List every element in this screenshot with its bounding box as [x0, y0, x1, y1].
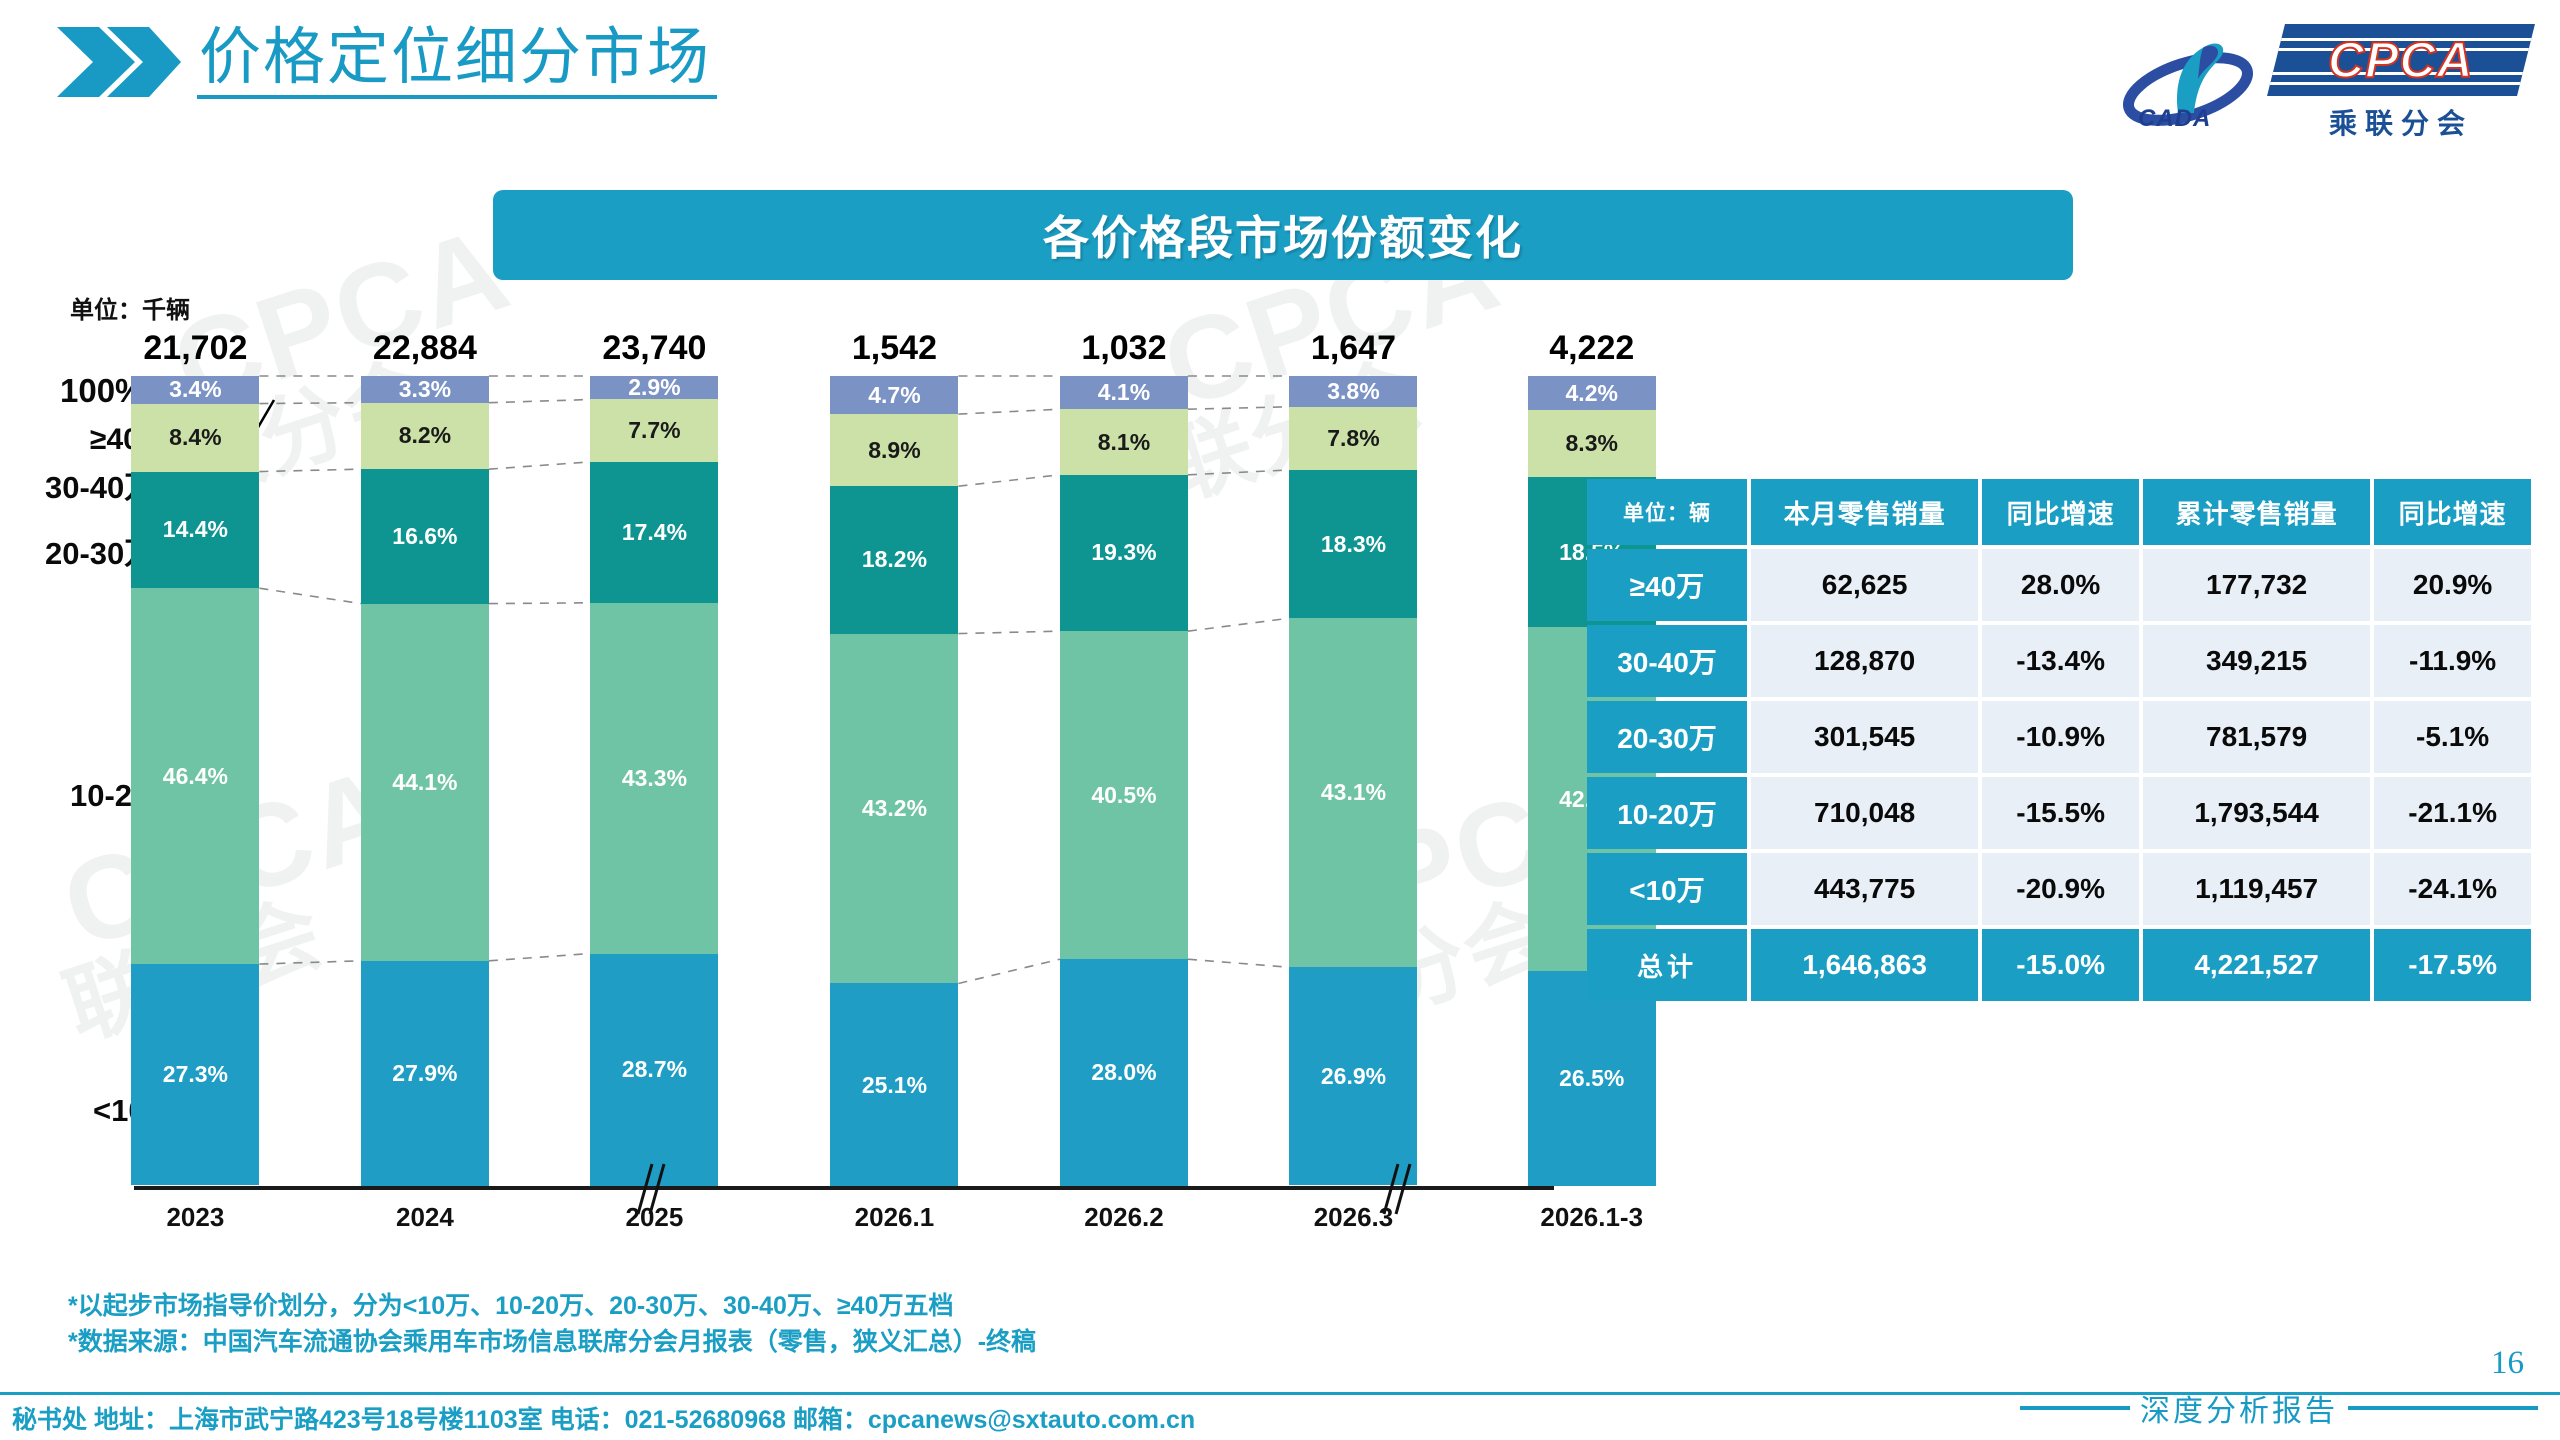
- bar-segment-≥40万: 3.8%: [1289, 376, 1417, 407]
- bar-segment-30-40万: 8.9%: [830, 414, 958, 486]
- page-number: 16: [2491, 1345, 2524, 1382]
- bar-segment-<10万: 28.7%: [590, 954, 718, 1186]
- table-row: 30-40万128,870-13.4%349,215-11.9%: [1587, 625, 2531, 697]
- table-row: ≥40万62,62528.0%177,73220.9%: [1587, 549, 2531, 621]
- table-cell-cum-sales: 177,732: [2143, 549, 2370, 621]
- table-cell-cum-sales: 4,221,527: [2143, 929, 2370, 1001]
- cpca-logo: CADA CPCA 乘联分会: [2116, 24, 2526, 142]
- bar-total-label: 22,884: [373, 329, 477, 368]
- table-cell-month-yoy: -15.0%: [1982, 929, 2139, 1001]
- x-tick-2024: 2024: [361, 1202, 489, 1233]
- table-cell-month-sales: 710,048: [1751, 777, 1978, 849]
- price-segment-table: 单位：辆 本月零售销量 同比增速 累计零售销量 同比增速 ≥40万62,6252…: [1583, 475, 2535, 1005]
- bar-segment-10-20万: 44.1%: [361, 604, 489, 961]
- table-cell-month-sales: 62,625: [1751, 549, 1978, 621]
- bar-column: 1,6473.8%7.8%18.3%43.1%26.9%: [1289, 376, 1417, 1186]
- footnote-2: *数据来源：中国汽车流通协会乘用车市场信息联席分会月报表（零售，狭义汇总）-终稿: [68, 1324, 1036, 1360]
- bar-segment-30-40万: 8.4%: [131, 404, 259, 472]
- bar-segment-≥40万: 3.3%: [361, 376, 489, 403]
- cada-wordmark: CADA: [2138, 105, 2211, 133]
- bar-segment-20-30万: 18.3%: [1289, 470, 1417, 618]
- table-cell-cum-sales: 1,793,544: [2143, 777, 2370, 849]
- cpca-text: CPCA: [2328, 31, 2474, 89]
- bar-segment-20-30万: 14.4%: [131, 472, 259, 589]
- bar-segment-20-30万: 18.2%: [830, 486, 958, 633]
- table-header-cum-sales: 累计零售销量: [2143, 479, 2370, 545]
- table-cell-cum-yoy: 20.9%: [2374, 549, 2531, 621]
- bar-column: 22,8843.3%8.2%16.6%44.1%27.9%: [361, 376, 489, 1186]
- table-cell-cum-yoy: -24.1%: [2374, 853, 2531, 925]
- bar-segment-10-20万: 40.5%: [1060, 631, 1188, 959]
- cpca-wordmark-block: CPCA 乘联分会: [2276, 24, 2526, 142]
- table-cell-row-label: 30-40万: [1587, 625, 1747, 697]
- table-cell-month-sales: 301,545: [1751, 701, 1978, 773]
- cpca-banner: CPCA: [2267, 24, 2535, 96]
- table-cell-month-yoy: 28.0%: [1982, 549, 2139, 621]
- table-cell-cum-yoy: -17.5%: [2374, 929, 2531, 1001]
- cada-swoosh-icon: CADA: [2116, 31, 2266, 135]
- x-tick-2025: 2025: [590, 1202, 718, 1233]
- bar-total-label: 4,222: [1549, 329, 1634, 368]
- table-cell-row-label: 20-30万: [1587, 701, 1747, 773]
- table-header: 单位：辆 本月零售销量 同比增速 累计零售销量 同比增速: [1587, 479, 2531, 545]
- table-header-month-yoy: 同比增速: [1982, 479, 2139, 545]
- footer-contact: 秘书处 地址：上海市武宁路423号18号楼1103室 电话：021-526809…: [12, 1400, 1195, 1436]
- bar-segment-20-30万: 17.4%: [590, 462, 718, 603]
- bar-segment-30-40万: 8.3%: [1528, 410, 1656, 477]
- bar-segment-<10万: 27.3%: [131, 964, 259, 1185]
- bar-segment-30-40万: 7.8%: [1289, 407, 1417, 470]
- table-cell-cum-sales: 349,215: [2143, 625, 2370, 697]
- divider-right: [2348, 1406, 2538, 1410]
- stacked-bar-chart: 100% ≥40万 30-40万 20-30万 10-20万 <10万 21,7…: [0, 0, 1580, 1280]
- bar-segment-30-40万: 7.7%: [590, 399, 718, 461]
- x-tick-2026.1: 2026.1: [830, 1202, 958, 1233]
- bar-total-label: 1,647: [1311, 329, 1396, 368]
- table-cell-row-label: ≥40万: [1587, 549, 1747, 621]
- bar-segment-≥40万: 4.2%: [1528, 376, 1656, 410]
- bar-segment-<10万: 26.9%: [1289, 967, 1417, 1185]
- x-tick-2026.1-3: 2026.1-3: [1528, 1202, 1656, 1233]
- bar-segment-10-20万: 43.1%: [1289, 618, 1417, 967]
- bar-segment-≥40万: 4.1%: [1060, 376, 1188, 409]
- divider-left: [2020, 1406, 2130, 1410]
- bar-segment-≥40万: 3.4%: [131, 376, 259, 404]
- bar-column: 23,7402.9%7.7%17.4%43.3%28.7%: [590, 376, 718, 1186]
- table-header-unit: 单位：辆: [1587, 479, 1747, 545]
- table-cell-row-label: <10万: [1587, 853, 1747, 925]
- table-cell-month-yoy: -10.9%: [1982, 701, 2139, 773]
- bar-segment-≥40万: 4.7%: [830, 376, 958, 414]
- slide-page: CPCA 联分会 CPCA 联分会 CPCA 联分会 CPCA 联分会 价格定位…: [0, 0, 2560, 1440]
- bar-total-label: 1,032: [1081, 329, 1166, 368]
- table-cell-month-sales: 1,646,863: [1751, 929, 1978, 1001]
- bar-segment-<10万: 27.9%: [361, 961, 489, 1187]
- table-cell-month-sales: 443,775: [1751, 853, 1978, 925]
- footer-divider: [0, 1392, 2560, 1395]
- bar-segment-30-40万: 8.2%: [361, 403, 489, 469]
- table-cell-row-label: 总计: [1587, 929, 1747, 1001]
- table-cell-month-sales: 128,870: [1751, 625, 1978, 697]
- table-cell-month-yoy: -13.4%: [1982, 625, 2139, 697]
- table-cell-row-label: 10-20万: [1587, 777, 1747, 849]
- table-cell-cum-yoy: -21.1%: [2374, 777, 2531, 849]
- bar-segment-<10万: 25.1%: [830, 983, 958, 1186]
- bar-total-label: 21,702: [143, 329, 247, 368]
- bar-segment-10-20万: 43.3%: [590, 603, 718, 954]
- footnote-1: *以起步市场指导价划分，分为<10万、10-20万、20-30万、30-40万、…: [68, 1288, 1036, 1324]
- bar-column: 1,5424.7%8.9%18.2%43.2%25.1%: [830, 376, 958, 1186]
- bar-total-label: 1,542: [852, 329, 937, 368]
- bar-segment-10-20万: 43.2%: [830, 634, 958, 984]
- table-cell-cum-sales: 1,119,457: [2143, 853, 2370, 925]
- table-total-row: 总计1,646,863-15.0%4,221,527-17.5%: [1587, 929, 2531, 1001]
- x-tick-2023: 2023: [131, 1202, 259, 1233]
- table-row: <10万443,775-20.9%1,119,457-24.1%: [1587, 853, 2531, 925]
- footnotes: *以起步市场指导价划分，分为<10万、10-20万、20-30万、30-40万、…: [68, 1288, 1036, 1361]
- bar-column: 1,0324.1%8.1%19.3%40.5%28.0%: [1060, 376, 1188, 1186]
- bar-segment-≥40万: 2.9%: [590, 376, 718, 399]
- x-tick-2026.2: 2026.2: [1060, 1202, 1188, 1233]
- table-header-row: 单位：辆 本月零售销量 同比增速 累计零售销量 同比增速: [1587, 479, 2531, 545]
- table-row: 10-20万710,048-15.5%1,793,544-21.1%: [1587, 777, 2531, 849]
- table-header-month-sales: 本月零售销量: [1751, 479, 1978, 545]
- table-body: ≥40万62,62528.0%177,73220.9%30-40万128,870…: [1587, 549, 2531, 1001]
- table-cell-cum-yoy: -5.1%: [2374, 701, 2531, 773]
- x-axis-line: [134, 1186, 1554, 1190]
- table-cell-month-yoy: -20.9%: [1982, 853, 2139, 925]
- table-header-cum-yoy: 同比增速: [2374, 479, 2531, 545]
- table-cell-month-yoy: -15.5%: [1982, 777, 2139, 849]
- table-row: 20-30万301,545-10.9%781,579-5.1%: [1587, 701, 2531, 773]
- table-cell-cum-sales: 781,579: [2143, 701, 2370, 773]
- bar-segment-<10万: 28.0%: [1060, 959, 1188, 1186]
- bar-segment-20-30万: 16.6%: [361, 469, 489, 603]
- bar-segment-20-30万: 19.3%: [1060, 475, 1188, 631]
- bar-column: 21,7023.4%8.4%14.4%46.4%27.3%: [131, 376, 259, 1186]
- bar-segment-30-40万: 8.1%: [1060, 409, 1188, 475]
- cpca-subtitle: 乘联分会: [2276, 102, 2526, 142]
- bar-segment-10-20万: 46.4%: [131, 588, 259, 964]
- bar-total-label: 23,740: [602, 329, 706, 368]
- table-cell-cum-yoy: -11.9%: [2374, 625, 2531, 697]
- x-tick-2026.3: 2026.3: [1289, 1202, 1417, 1233]
